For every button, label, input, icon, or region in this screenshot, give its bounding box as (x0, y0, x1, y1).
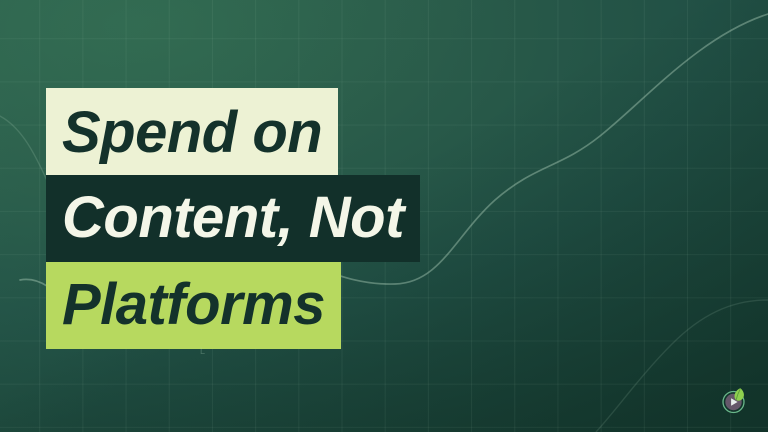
slide-canvas: Spend on Content, Not Platforms L (0, 0, 768, 432)
headline-line-2: Content, Not (46, 175, 420, 262)
subtitle-mark: L (200, 346, 206, 356)
headline-block: Spend on Content, Not Platforms (46, 88, 420, 349)
headline-line-3: Platforms (46, 262, 341, 349)
headline-line-1: Spend on (46, 88, 338, 175)
leaf-play-logo[interactable] (718, 382, 752, 416)
